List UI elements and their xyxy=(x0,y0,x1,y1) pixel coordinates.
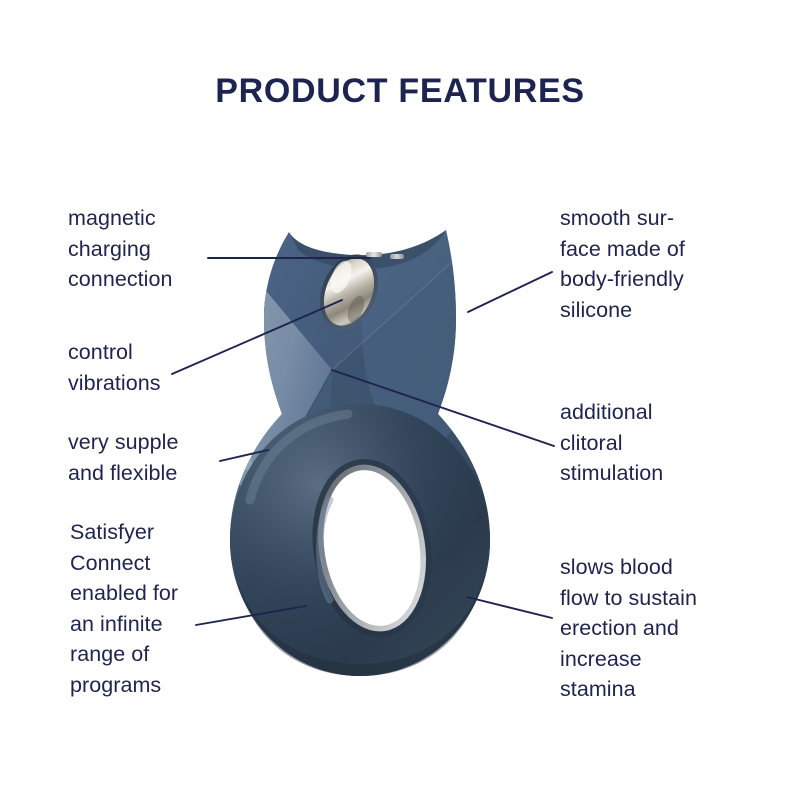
leader-line-smooth-surface xyxy=(468,272,552,312)
ring-opening xyxy=(230,404,490,676)
leader-line-slows-blood xyxy=(467,597,552,618)
feature-label-satisfyer-connect: Satisfyer Connect enabled for an infinit… xyxy=(70,517,178,700)
magnetic-charging-contacts xyxy=(366,252,404,259)
feature-label-magnetic-charging-connection: magnetic charging connection xyxy=(68,203,173,295)
page-title: PRODUCT FEATURES xyxy=(0,72,800,111)
leader-line-very-supple xyxy=(220,450,268,461)
silicone-body xyxy=(228,210,500,676)
leader-line-control-vibrations xyxy=(172,300,342,374)
metallic-control-button[interactable] xyxy=(309,246,388,339)
product-features-infographic: PRODUCT FEATURES xyxy=(0,0,800,800)
feature-label-very-supple-and-flexible: very supple and flexible xyxy=(68,427,179,488)
leader-line-satisfyer-connect xyxy=(196,606,306,625)
feature-label-additional-clitoral-stimulation: additional clitoral stimulation xyxy=(560,397,663,489)
feature-label-slows-blood-flow: slows blood flow to sustain erection and… xyxy=(560,552,697,705)
feature-label-smooth-surface-silicone: smooth sur- face made of body-friendly s… xyxy=(560,203,685,325)
feature-label-control-vibrations: control vibrations xyxy=(68,337,161,398)
leader-line-clitoral xyxy=(332,370,554,446)
